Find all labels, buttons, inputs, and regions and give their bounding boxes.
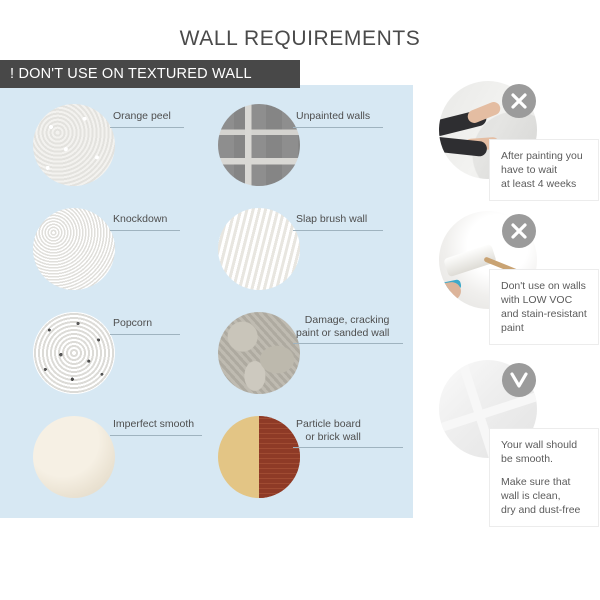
- texture-swatch-unpainted-walls: [218, 104, 300, 186]
- texture-label-particle-board-brick: Particle board or brick wall: [296, 418, 361, 443]
- hand-shape: [466, 100, 502, 125]
- texture-swatch-orange-peel: [33, 104, 115, 186]
- tip-card-low-voc: Don't use on walls with LOW VOC and stai…: [489, 269, 599, 345]
- texture-swatch-knockdown: [33, 208, 115, 290]
- texture-label-knockdown: Knockdown: [113, 213, 167, 226]
- cross-icon: [502, 84, 536, 118]
- texture-rule-slap-brush-wall: [293, 230, 383, 231]
- texture-swatch-damage-cracking: [218, 312, 300, 394]
- texture-swatch-slap-brush-wall: [218, 208, 300, 290]
- texture-swatch-imperfect-smooth: [33, 416, 115, 498]
- texture-rule-knockdown: [110, 230, 180, 231]
- tip-card-smooth-clean-wall: Your wall should be smooth. Make sure th…: [489, 428, 599, 527]
- texture-rule-particle-board-brick: [293, 447, 403, 448]
- texture-rule-orange-peel: [110, 127, 184, 128]
- texture-label-slap-brush-wall: Slap brush wall: [296, 213, 367, 226]
- texture-rule-unpainted-walls: [293, 127, 383, 128]
- texture-label-imperfect-smooth: Imperfect smooth: [113, 418, 194, 431]
- texture-label-unpainted-walls: Unpainted walls: [296, 110, 370, 123]
- tip-paragraph: Make sure that wall is clean, dry and du…: [501, 475, 588, 517]
- texture-rule-imperfect-smooth: [110, 435, 202, 436]
- texture-rule-popcorn: [110, 334, 180, 335]
- texture-swatch-popcorn: [33, 312, 115, 394]
- texture-label-orange-peel: Orange peel: [113, 110, 171, 123]
- hand-shape: [439, 281, 462, 303]
- texture-rule-damage-cracking: [293, 343, 403, 344]
- particle-board-half: [218, 416, 259, 498]
- tip-paragraph: Your wall should be smooth.: [501, 438, 588, 466]
- tip-paragraph: After painting you have to wait at least…: [501, 149, 588, 191]
- check-icon: [502, 363, 536, 397]
- texture-swatch-particle-board-brick: [218, 416, 300, 498]
- texture-label-damage-cracking: Damage, cracking paint or sanded wall: [296, 314, 389, 339]
- tip-smooth-clean-wall: Your wall should be smooth. Make sure th…: [0, 0, 98, 98]
- infographic-root: WALL REQUIREMENTS ! DON'T USE ON TEXTURE…: [0, 0, 600, 600]
- brick-wall-half: [259, 416, 300, 498]
- tip-paragraph: Don't use on walls with LOW VOC and stai…: [501, 279, 588, 335]
- texture-label-popcorn: Popcorn: [113, 317, 152, 330]
- cross-icon: [502, 214, 536, 248]
- tip-card-wait-4-weeks: After painting you have to wait at least…: [489, 139, 599, 201]
